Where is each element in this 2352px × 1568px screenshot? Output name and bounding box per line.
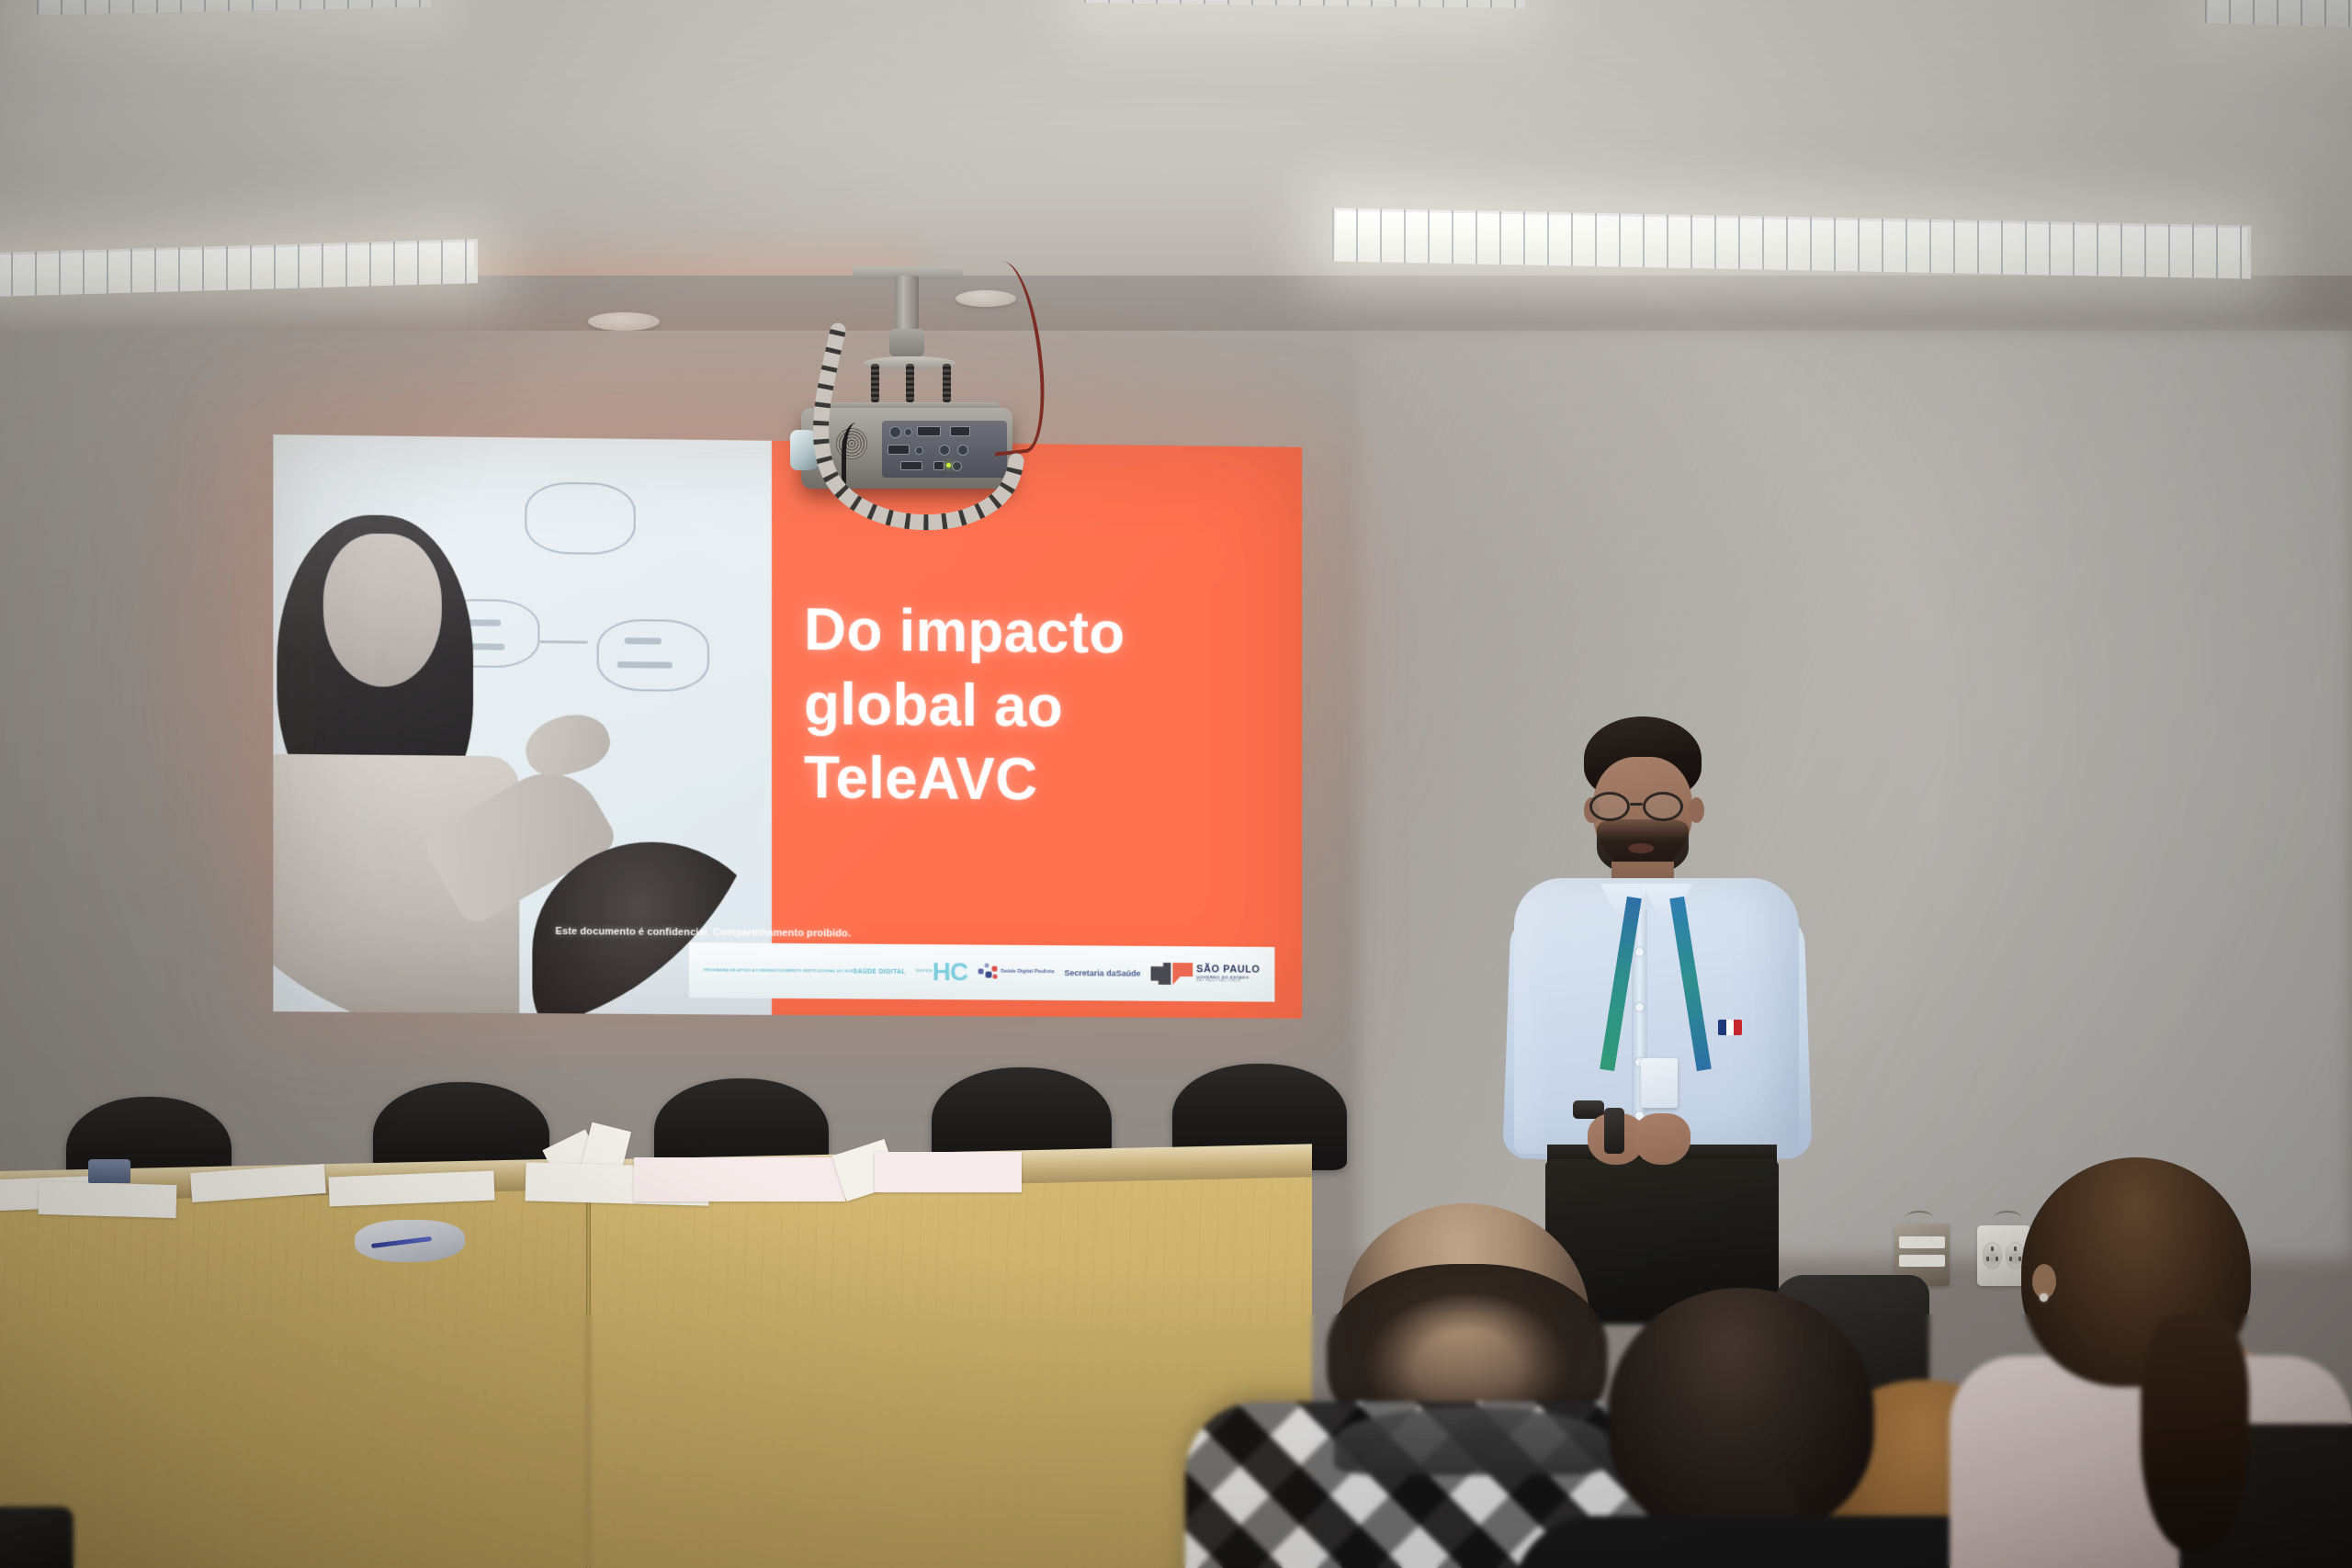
logo-saude-digital-paulista: Saúde Digital Paulista xyxy=(978,964,1054,983)
slide-person-hand xyxy=(519,705,616,783)
logo-sdp-mark xyxy=(978,964,998,982)
logo-secretaria-line-2: Saúde xyxy=(1116,968,1141,978)
cable-wrap-spiral xyxy=(781,323,1038,535)
logo-sao-paulo-mark xyxy=(1151,963,1193,985)
logo-inova-hc-pre: inova xyxy=(916,969,933,974)
logo-saude-digital: PROGRAMA DE APOIO AO DESENVOLVIMENTO INS… xyxy=(704,966,906,976)
attendee-collar xyxy=(1334,1407,1610,1475)
audience xyxy=(0,1084,2352,1568)
shirt-brand-logo xyxy=(1718,1020,1742,1035)
whiteboard-bubble xyxy=(525,482,635,556)
slide-title-line-3: TeleAVC xyxy=(804,740,1234,818)
whiteboard-connector xyxy=(539,640,587,644)
attendee-ponytail xyxy=(2141,1314,2249,1552)
presenter-mouth xyxy=(1628,843,1654,853)
slide-title: Do impacto global ao TeleAVC xyxy=(804,592,1234,818)
whiteboard-bubble xyxy=(597,619,709,692)
logo-inova-hc: inova HC xyxy=(916,961,967,983)
slide-logo-bar: PROGRAMA DE APOIO AO DESENVOLVIMENTO INS… xyxy=(689,942,1275,1002)
shirt-button xyxy=(1635,948,1644,956)
whiteboard-scribble xyxy=(617,661,673,669)
presentation-room-photo: Do impacto global ao TeleAVC Este docume… xyxy=(0,0,2352,1568)
logo-saude-digital-tagline: PROGRAMA DE APOIO AO DESENVOLVIMENTO INS… xyxy=(704,968,854,974)
presenter-glasses xyxy=(1589,792,1698,821)
logo-secretaria-da-saude: Secretaria da Saúde xyxy=(1064,968,1140,978)
logo-sdp-label: Saúde Digital Paulista xyxy=(1001,969,1054,976)
logo-sao-paulo-words: SÃO PAULO GOVERNO DO ESTADO SÃO PAULO SÃ… xyxy=(1196,964,1260,984)
slide-person-face xyxy=(323,533,442,687)
logo-sao-paulo-line-3: SÃO PAULO SÃO TODOS xyxy=(1196,980,1260,984)
earring xyxy=(2040,1293,2048,1302)
ceiling-projector xyxy=(772,268,1038,535)
whiteboard-scribble xyxy=(625,637,661,644)
logo-saude-digital-label: SAÚDE DIGITAL xyxy=(854,969,906,976)
logo-secretaria-line-1: Secretaria da xyxy=(1064,968,1115,978)
shirt-button xyxy=(1635,1003,1644,1011)
logo-sao-paulo-governo: SÃO PAULO GOVERNO DO ESTADO SÃO PAULO SÃ… xyxy=(1151,963,1261,986)
slide-title-line-1: Do impacto xyxy=(804,592,1234,671)
slide-title-line-2: global ao xyxy=(804,667,1234,745)
logo-inova-hc-label: HC xyxy=(933,961,967,983)
chair-corner xyxy=(0,1506,73,1568)
